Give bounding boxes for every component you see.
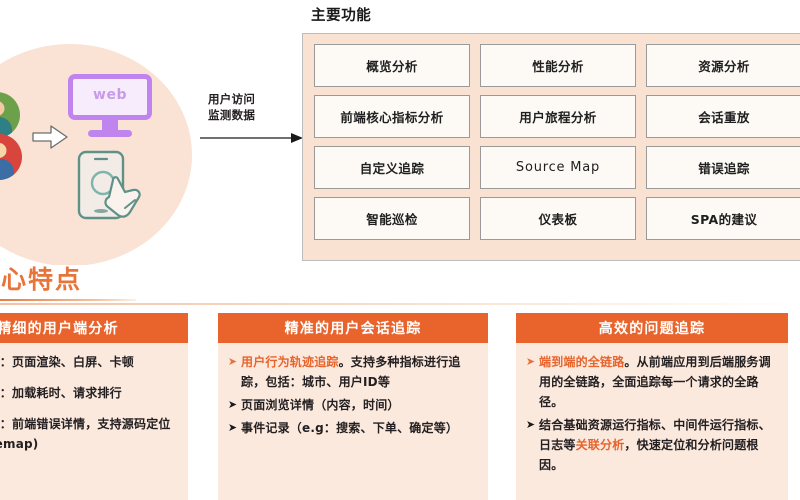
- block-arrow-right-icon: [31, 124, 69, 150]
- list-item-text: 结合基础资源运行指标、中间件运行指标、日志等关联分析，快速定位和分析问题根因。: [539, 415, 778, 475]
- main-features-section: 主要功能 概览分析性能分析资源分析前端核心指标分析用户旅程分析会话重放自定义追踪…: [302, 4, 800, 261]
- data-flow-annotation: 用户访问 监测数据: [200, 92, 304, 146]
- list-item-text: 事件记录（e.g：搜索、下单、确定等）: [241, 418, 458, 438]
- slide-canvas: web 用户访问 监测数据 主要功能 概览分析性能分析资源分析前端核心指标分析用: [0, 0, 800, 500]
- feature-tile[interactable]: 前端核心指标分析: [314, 95, 470, 138]
- flow-label-line2: 监测数据: [208, 108, 300, 124]
- list-item-text: 错误分析：前端错误详情，支持源码定位(sourcemap): [0, 414, 178, 454]
- features-panel: 概览分析性能分析资源分析前端核心指标分析用户旅程分析会话重放自定义追踪Sourc…: [302, 33, 800, 261]
- section-divider: [0, 303, 800, 305]
- avatar-head: [0, 101, 5, 116]
- feature-tile[interactable]: 智能巡检: [314, 197, 470, 240]
- bullet-chevron-icon: ➤: [224, 395, 241, 415]
- list-item-text: 端到端的全链路。从前端应用到后端服务调用的全链路，全面追踪每一个请求的全路径。: [539, 352, 778, 412]
- feature-card-session-tracking: 精准的用户会话追踪➤用户行为轨迹追踪。支持多种指标进行追踪，包括：城市、用户ID…: [218, 313, 488, 500]
- features-grid: 概览分析性能分析资源分析前端核心指标分析用户旅程分析会话重放自定义追踪Sourc…: [303, 44, 800, 240]
- card-body: ➤页面分析：页面渲染、白屏、卡顿➤请求分析：加载耗时、请求排行➤错误分析：前端错…: [0, 343, 188, 500]
- monitor-base: [88, 130, 132, 137]
- feature-tile[interactable]: 仪表板: [480, 197, 636, 240]
- list-item-text: 页面分析：页面渲染、白屏、卡顿: [0, 352, 134, 372]
- flow-label-line1: 用户访问: [208, 92, 300, 108]
- feature-tile[interactable]: 用户旅程分析: [480, 95, 636, 138]
- feature-tile[interactable]: 错误追踪: [646, 146, 800, 189]
- feature-card-client-analysis: 精细的用户端分析➤页面分析：页面渲染、白屏、卡顿➤请求分析：加载耗时、请求排行➤…: [0, 313, 188, 500]
- list-item-text: 页面浏览详情（内容，时间）: [241, 395, 400, 415]
- feature-tile[interactable]: Source Map: [480, 146, 636, 189]
- feature-tile[interactable]: 自定义追踪: [314, 146, 470, 189]
- list-item: ➤页面浏览详情（内容，时间）: [224, 395, 478, 415]
- list-item: ➤事件记录（e.g：搜索、下单、确定等）: [224, 418, 478, 438]
- highlighted-term: 用户行为轨迹追踪: [241, 355, 339, 369]
- feature-tile[interactable]: 性能分析: [480, 44, 636, 87]
- feature-tile[interactable]: 会话重放: [646, 95, 800, 138]
- list-item-text: 用户行为轨迹追踪。支持多种指标进行追踪，包括：城市、用户ID等: [241, 352, 478, 392]
- highlighted-term: 端到端的全链路: [539, 355, 624, 369]
- list-item: ➤错误分析：前端错误详情，支持源码定位(sourcemap): [0, 414, 178, 454]
- card-title: 高效的问题追踪: [516, 313, 788, 343]
- core-features-title: 核心特点: [0, 266, 194, 294]
- list-item: ➤页面分析：页面渲染、白屏、卡顿: [0, 352, 178, 372]
- list-item: ➤端到端的全链路。从前端应用到后端服务调用的全链路，全面追踪每一个请求的全路径。: [522, 352, 778, 412]
- avatar: [0, 92, 20, 138]
- avatar: [0, 134, 22, 180]
- page-title: 主要功能: [302, 4, 800, 25]
- list-item: ➤请求分析：加载耗时、请求排行: [0, 383, 178, 403]
- desktop-monitor-icon: web: [68, 74, 152, 140]
- avatar-body: [0, 159, 14, 180]
- card-body: ➤端到端的全链路。从前端应用到后端服务调用的全链路，全面追踪每一个请求的全路径。…: [516, 343, 788, 500]
- feature-card-issue-tracking: 高效的问题追踪➤端到端的全链路。从前端应用到后端服务调用的全链路，全面追踪每一个…: [516, 313, 788, 500]
- core-features-heading: 核心特点: [0, 266, 194, 301]
- bullet-chevron-icon: ➤: [224, 418, 241, 438]
- flow-label: 用户访问 监测数据: [208, 92, 300, 123]
- feature-tile[interactable]: SPA的建议: [646, 197, 800, 240]
- list-item-text: 请求分析：加载耗时、请求排行: [0, 383, 122, 403]
- card-title: 精准的用户会话追踪: [218, 313, 488, 343]
- card-body: ➤用户行为轨迹追踪。支持多种指标进行追踪，包括：城市、用户ID等➤页面浏览详情（…: [218, 343, 488, 500]
- card-title: 精细的用户端分析: [0, 313, 188, 343]
- bullet-chevron-icon: ➤: [522, 415, 539, 435]
- feature-tile[interactable]: 资源分析: [646, 44, 800, 87]
- heading-underline: [0, 299, 136, 301]
- list-item: ➤结合基础资源运行指标、中间件运行指标、日志等关联分析，快速定位和分析问题根因。: [522, 415, 778, 475]
- highlighted-term: 关联分析: [576, 438, 625, 452]
- avatar-head: [0, 143, 7, 158]
- bullet-chevron-icon: ➤: [522, 352, 539, 372]
- monitor-label: web: [68, 87, 152, 103]
- feature-tile[interactable]: 概览分析: [314, 44, 470, 87]
- mobile-tap-icon: [75, 150, 163, 228]
- list-item: ➤用户行为轨迹追踪。支持多种指标进行追踪，包括：城市、用户ID等: [224, 352, 478, 392]
- arrow-right-icon: [200, 132, 304, 144]
- bullet-chevron-icon: ➤: [224, 352, 241, 372]
